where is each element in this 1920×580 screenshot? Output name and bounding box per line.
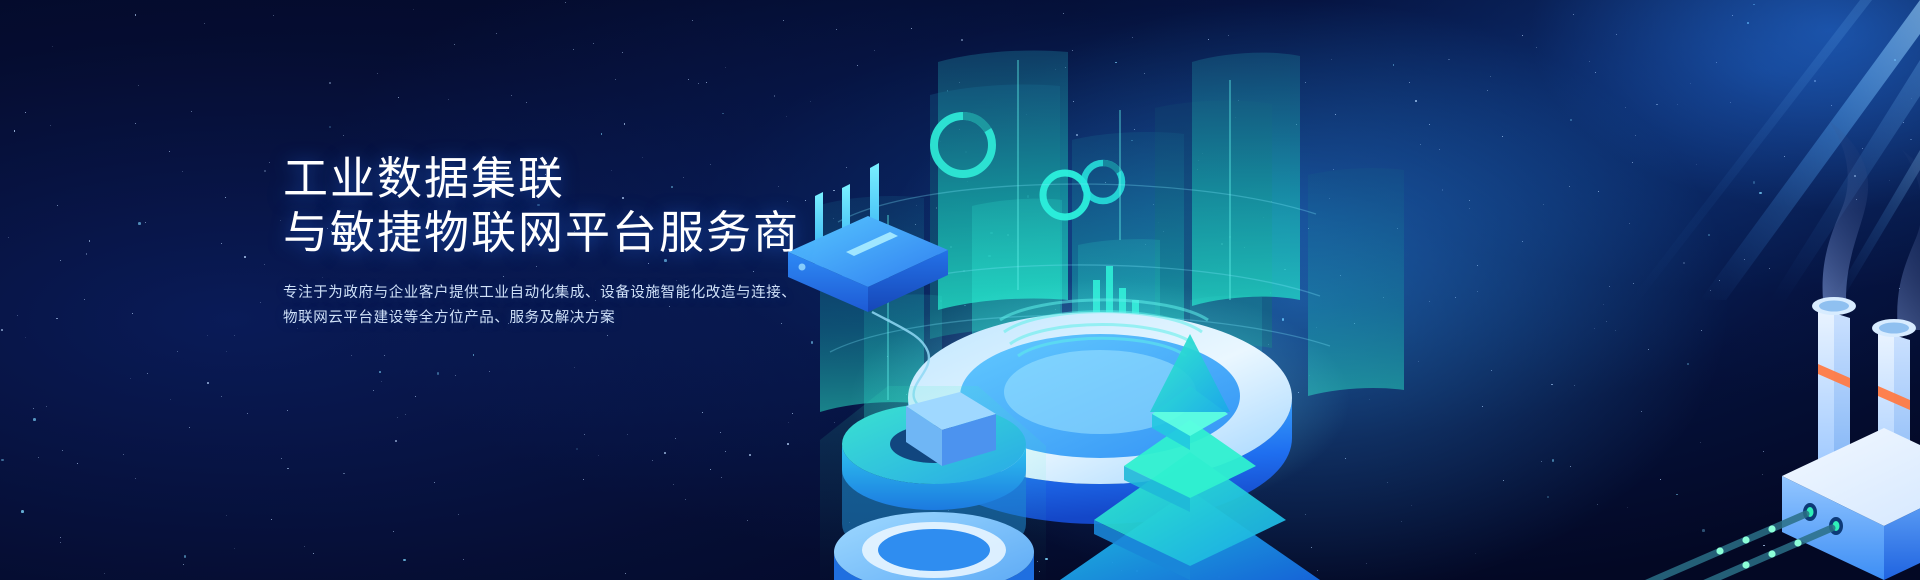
star-dot <box>273 15 274 16</box>
star-dot <box>351 355 352 356</box>
star-dot <box>182 171 183 172</box>
star-dot <box>379 371 381 373</box>
star-dot <box>207 335 208 336</box>
star-dot <box>104 573 105 574</box>
subtitle-line-1: 专注于为政府与企业客户提供工业自动化集成、设备设施智能化改造与连接、 <box>283 281 843 306</box>
star-dot <box>329 82 331 84</box>
star-dot <box>576 448 579 451</box>
star-dot <box>130 378 131 379</box>
star-dot <box>132 313 133 314</box>
star-dot <box>652 460 653 461</box>
star-dot <box>138 85 139 86</box>
star-dot <box>1 459 4 462</box>
star-dot <box>710 469 711 470</box>
star-dot <box>722 113 724 115</box>
star-dot <box>25 112 26 113</box>
star-dot <box>264 264 265 265</box>
star-dot <box>343 135 344 136</box>
star-dot <box>189 427 190 428</box>
star-dot <box>89 240 91 242</box>
star-dot <box>721 477 722 478</box>
star-dot <box>448 99 449 100</box>
star-dot <box>725 451 726 452</box>
star-dot <box>413 9 414 10</box>
star-dot <box>264 170 266 172</box>
star-dot <box>601 133 603 135</box>
star-dot <box>398 97 399 98</box>
star-dot <box>395 440 397 442</box>
star-dot <box>1 329 3 331</box>
stack-1-mouth <box>1819 301 1849 312</box>
star-dot <box>622 52 623 53</box>
star-dot <box>184 555 187 558</box>
star-dot <box>234 335 235 336</box>
star-dot <box>33 418 36 421</box>
star-dot <box>675 438 676 439</box>
factory-smokestacks <box>1782 120 1920 580</box>
star-dot <box>437 372 440 375</box>
star-dot <box>593 43 594 44</box>
star-dot <box>313 553 314 554</box>
star-dot <box>454 44 455 45</box>
star-dot <box>271 519 272 520</box>
star-dot <box>496 33 497 34</box>
star-dot <box>565 2 566 3</box>
star-dot <box>25 337 26 338</box>
star-dot <box>384 355 385 356</box>
star-dot <box>574 367 575 368</box>
star-dot <box>17 315 18 316</box>
star-dot <box>57 205 58 206</box>
star-dot <box>221 396 222 397</box>
star-dot <box>226 351 227 352</box>
star-dot <box>56 318 58 320</box>
star-dot <box>625 573 626 574</box>
star-dot <box>607 335 608 336</box>
star-dot <box>287 410 288 411</box>
star-dot <box>473 354 475 356</box>
star-dot <box>747 520 748 521</box>
star-dot <box>573 49 574 50</box>
star-dot <box>463 559 464 560</box>
star-dot <box>147 373 148 374</box>
star-dot <box>405 414 406 415</box>
smoke-plume-1 <box>1823 120 1869 300</box>
star-dot <box>393 531 395 533</box>
star-dot <box>598 455 599 456</box>
star-dot <box>403 559 406 562</box>
star-dot <box>287 468 289 470</box>
star-dot <box>135 123 136 124</box>
star-dot <box>455 375 456 376</box>
tower-panel-3 <box>1192 53 1300 306</box>
star-dot <box>14 130 16 132</box>
star-dot <box>77 463 78 464</box>
star-dot <box>702 412 703 413</box>
star-dot <box>33 408 34 409</box>
star-dot <box>304 546 305 547</box>
isometric-illustration <box>760 0 1920 580</box>
star-dot <box>281 458 282 459</box>
star-dot <box>615 79 616 80</box>
star-dot <box>204 23 205 24</box>
star-dot <box>138 222 141 225</box>
star-dot <box>627 434 628 435</box>
star-dot <box>511 95 512 96</box>
star-dot <box>458 514 459 515</box>
star-dot <box>60 260 61 261</box>
star-dot <box>46 406 47 407</box>
star-dot <box>329 126 331 128</box>
headline-line-1: 工业数据集联 <box>283 153 565 204</box>
star-dot <box>169 151 170 152</box>
banner-headline: 工业数据集联 与敏捷物联网平台服务商 <box>283 152 843 260</box>
star-dot <box>260 302 261 303</box>
star-dot <box>247 413 248 414</box>
star-dot <box>226 515 227 516</box>
star-dot <box>725 67 726 68</box>
star-dot <box>145 222 146 223</box>
star-dot <box>135 14 137 16</box>
star-dot <box>177 351 179 353</box>
star-dot <box>434 482 435 483</box>
star-dot <box>86 253 88 255</box>
subtitle-line-2: 物联网云平台建设等全方位产品、服务及解决方案 <box>283 306 843 331</box>
star-dot <box>415 396 416 397</box>
star-dot <box>50 125 51 126</box>
star-dot <box>135 478 136 479</box>
star-dot <box>749 454 751 456</box>
star-dot <box>720 432 721 433</box>
star-dot <box>688 79 689 80</box>
star-dot <box>234 548 235 549</box>
star-dot <box>664 452 666 454</box>
star-dot <box>526 102 527 103</box>
star-dot <box>698 83 699 84</box>
star-dot <box>685 499 686 500</box>
star-dot <box>489 371 490 372</box>
star-dot <box>244 256 246 258</box>
star-dot <box>8 237 10 239</box>
headline-line-2: 与敏捷物联网平台服务商 <box>283 206 843 260</box>
star-dot <box>60 537 61 538</box>
star-dot <box>221 243 222 244</box>
star-dot <box>170 399 171 400</box>
star-dot <box>21 510 24 513</box>
star-dot <box>624 123 626 125</box>
star-dot <box>584 434 585 435</box>
star-dot <box>397 417 398 418</box>
star-dot <box>207 382 209 384</box>
star-dot <box>343 473 345 475</box>
star-dot <box>52 46 53 47</box>
smoke-plume-2 <box>1897 150 1920 330</box>
hero-banner: 工业数据集联 与敏捷物联网平台服务商 专注于为政府与企业客户提供工业自动化集成、… <box>0 0 1920 580</box>
star-dot <box>692 20 693 21</box>
star-dot <box>84 299 85 300</box>
star-dot <box>38 457 39 458</box>
star-dot <box>225 197 226 198</box>
banner-subtitle: 专注于为政府与企业客户提供工业自动化集成、设备设施智能化改造与连接、 物联网云平… <box>283 281 843 331</box>
star-dot <box>60 542 62 544</box>
stack-1-body-hi <box>1818 300 1834 470</box>
star-dot <box>381 381 382 382</box>
star-dot <box>583 479 584 480</box>
star-dot <box>673 484 674 485</box>
star-dot <box>183 564 184 565</box>
star-dot <box>123 454 124 455</box>
stack-2-mouth <box>1879 323 1909 334</box>
star-dot <box>706 82 707 83</box>
star-dot <box>373 390 374 391</box>
star-dot <box>269 162 270 163</box>
star-dot <box>62 450 63 451</box>
star-dot <box>377 73 378 74</box>
pedestal-core <box>878 529 990 571</box>
banner-copy: 工业数据集联 与敏捷物联网平台服务商 专注于为政府与企业客户提供工业自动化集成、… <box>283 152 843 331</box>
star-dot <box>191 111 192 112</box>
star-dot <box>280 220 281 221</box>
